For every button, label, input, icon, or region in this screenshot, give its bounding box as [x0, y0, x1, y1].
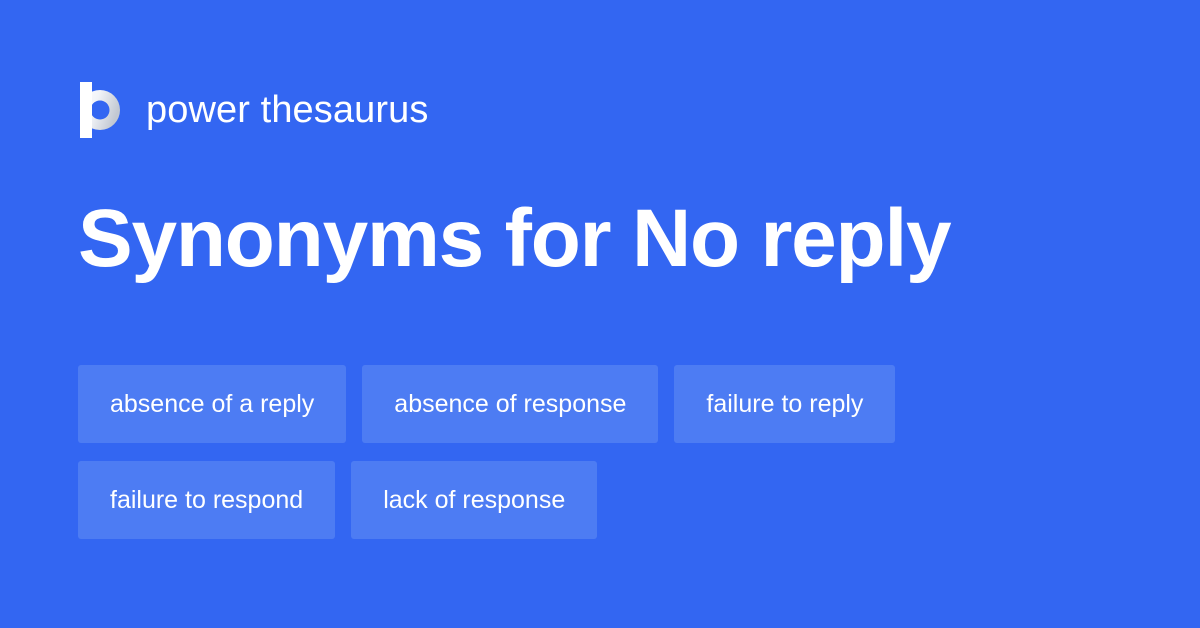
synonym-chip[interactable]: failure to reply — [674, 365, 895, 443]
share-card: power thesaurus Synonyms for No reply ab… — [0, 0, 1200, 628]
synonym-chip-list: absence of a reply absence of response f… — [78, 365, 1128, 539]
synonym-chip[interactable]: lack of response — [351, 461, 597, 539]
page-title: Synonyms for No reply — [78, 196, 950, 283]
brand-name: power thesaurus — [146, 91, 428, 129]
synonym-chip[interactable]: absence of a reply — [78, 365, 346, 443]
synonym-chip[interactable]: failure to respond — [78, 461, 335, 539]
power-thesaurus-logo-icon — [80, 82, 124, 138]
brand-header[interactable]: power thesaurus — [80, 78, 428, 142]
synonym-chip[interactable]: absence of response — [362, 365, 658, 443]
